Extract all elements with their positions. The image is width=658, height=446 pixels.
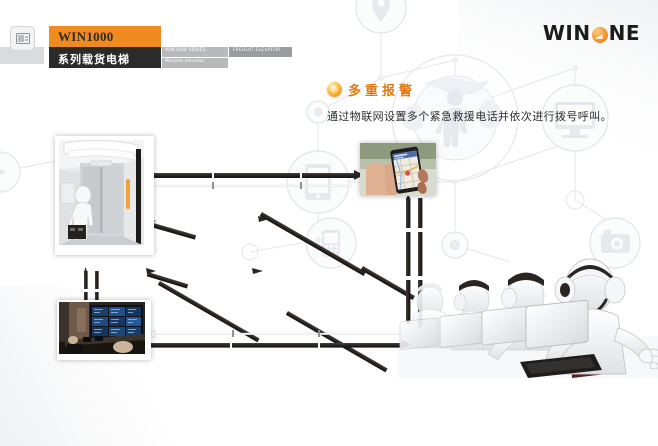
connector-phone-to-elevator [146,168,352,190]
logo-text-left: WIN [543,23,591,43]
callout-heading: 多重报警 [327,80,637,99]
logo-mark-icon [592,27,608,43]
watermark-location-pin-icon [356,0,406,33]
connector-accent-marks [146,216,269,274]
mobile-phone-photo [360,143,436,196]
product-title-banner: WIN1000 [49,26,161,47]
slide-root: .wl{stroke:#e3e6ea;stroke-width:1;fill:n… [0,0,658,446]
watermark-tablet-icon [287,151,349,213]
connector-elevator-to-phone [146,170,364,180]
tag-type: FREIGHT ELEVATOR [229,47,292,57]
tag-type-label: FREIGHT ELEVATOR [233,48,280,53]
call-center-agents [398,228,658,378]
callout-title: 多重报警 [348,80,416,99]
product-title: WIN1000 [58,29,114,45]
tag-model: Winone elevator [162,58,228,68]
product-subtitle: 系列载货电梯 [58,51,130,67]
logo-text-right: NE [609,23,640,43]
product-subtitle-banner: 系列载货电梯 [49,47,161,68]
winone-logo: WIN NE [543,23,640,43]
elevator-car-photo [55,136,154,255]
orange-bullet-icon [327,82,342,97]
tag-series: WIN1000 SERIES [162,47,228,57]
tag-series-label: WIN1000 SERIES [165,48,206,53]
control-room-photo [57,300,151,360]
tag-model-label: Winone elevator [165,59,205,64]
callout-block: 多重报警 通过物联网设置多个紧急救援电话并依次进行拨号呼叫。 [327,80,637,124]
elevator-panel-icon [10,26,35,51]
watermark-phone-icon [306,218,356,268]
callout-body: 通过物联网设置多个紧急救援电话并依次进行拨号呼叫。 [327,108,637,124]
